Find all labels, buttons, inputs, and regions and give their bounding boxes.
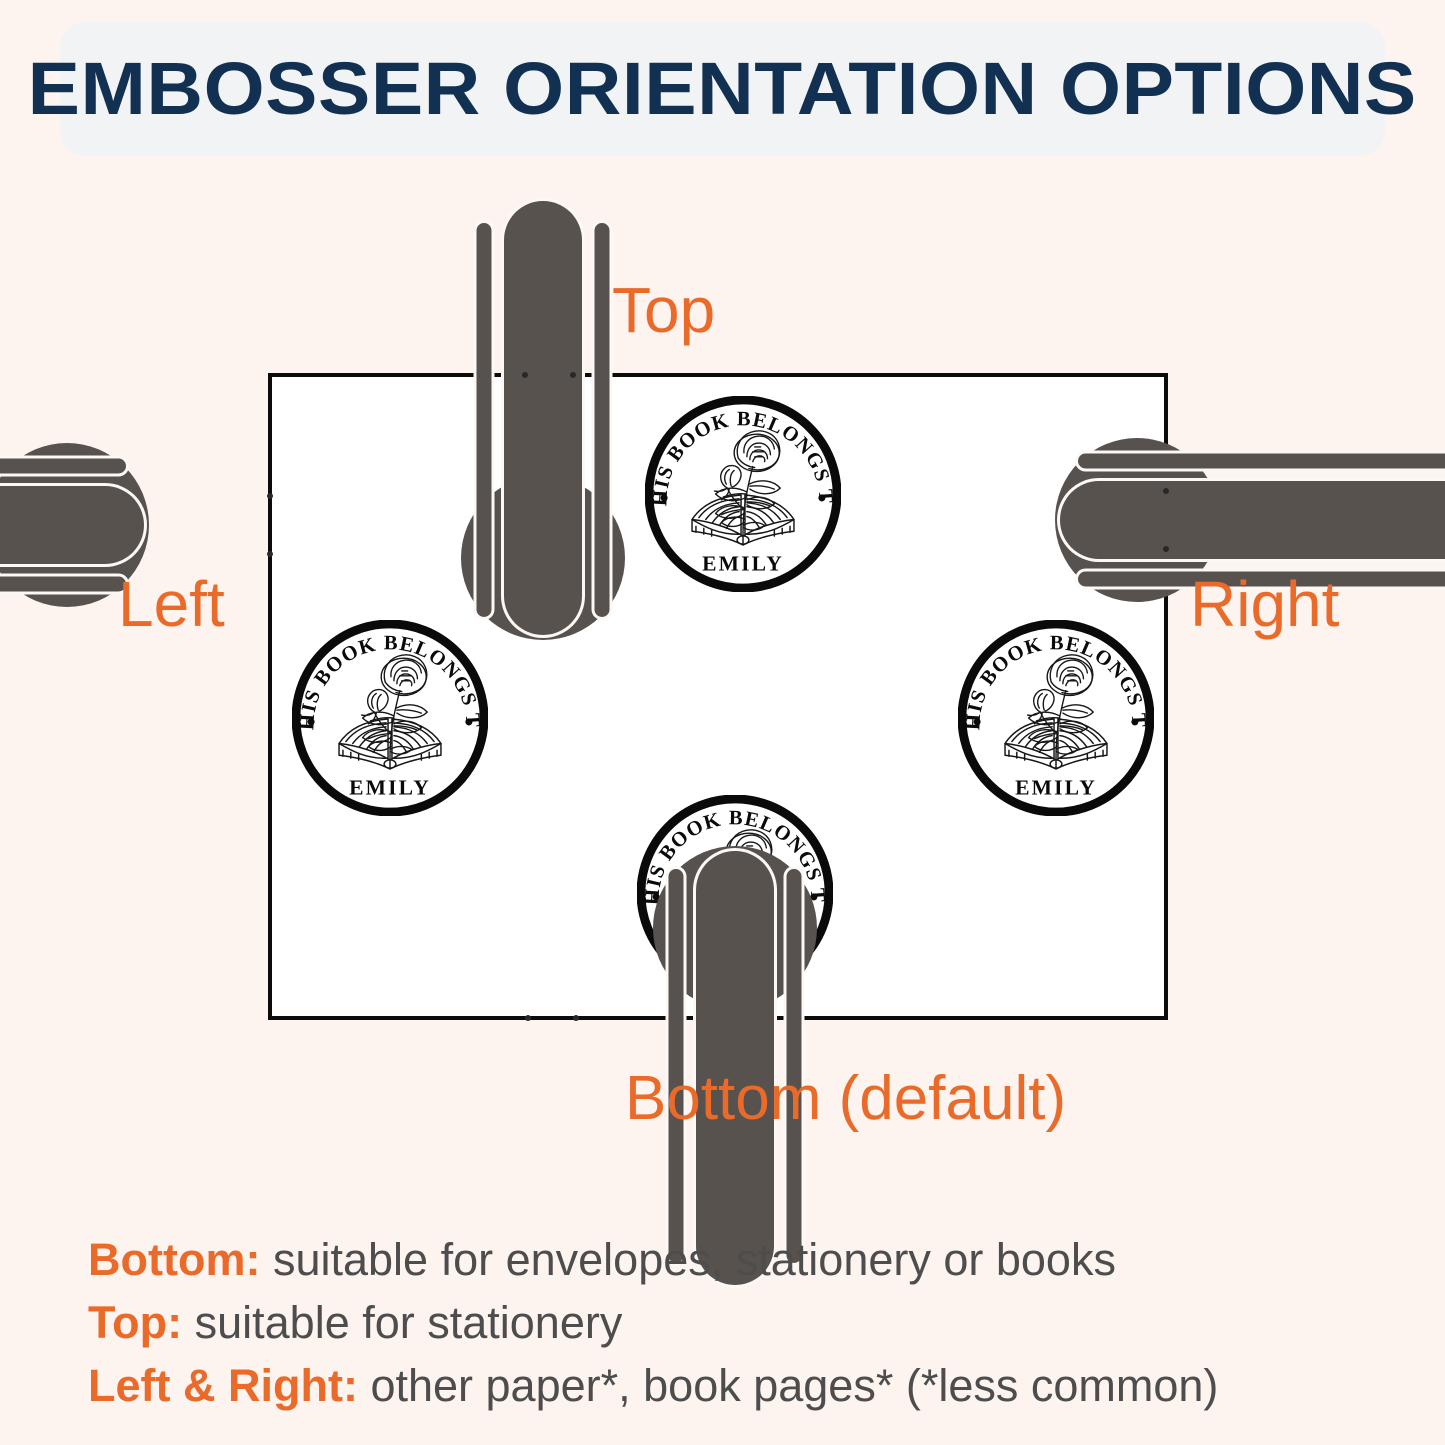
embosser-right-dot-bottom [1163, 546, 1169, 552]
legend: Bottom: suitable for envelopes, statione… [88, 1228, 1388, 1417]
embosser-right-dot-top [1163, 488, 1169, 494]
embosser-left-dot-bottom [267, 551, 273, 557]
legend-desc-bottom: suitable for envelopes, stationery or bo… [273, 1234, 1116, 1285]
legend-key-top: Top: [88, 1297, 182, 1348]
legend-row-bottom: Bottom: suitable for envelopes, statione… [88, 1228, 1388, 1291]
orientation-label-right: Right [1190, 572, 1339, 636]
embosser-top[interactable] [461, 198, 625, 640]
orientation-label-bottom: Bottom (default) [625, 1068, 1066, 1130]
legend-row-top: Top: suitable for stationery [88, 1291, 1388, 1354]
legend-row-left-right: Left & Right: other paper*, book pages* … [88, 1354, 1388, 1417]
legend-key-bottom: Bottom: [88, 1234, 260, 1285]
embosser-top-dot-left [522, 372, 528, 378]
orientation-label-top: Top [612, 278, 715, 342]
legend-desc-left-right: other paper*, book pages* (*less common) [370, 1360, 1218, 1411]
embosser-top-dot-right [570, 372, 576, 378]
legend-desc-top: suitable for stationery [195, 1297, 623, 1348]
legend-key-left-right: Left & Right: [88, 1360, 358, 1411]
orientation-label-left: Left [118, 572, 225, 636]
embosser-bottom-dot-right [573, 1015, 579, 1021]
embosser-left-dot-top [267, 493, 273, 499]
embosser-bottom-dot-left [525, 1015, 531, 1021]
